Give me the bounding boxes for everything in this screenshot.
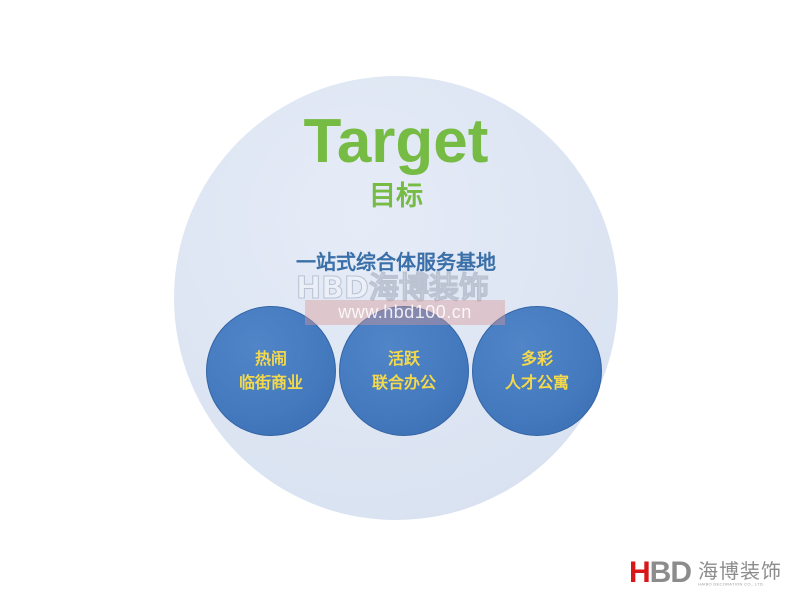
logo-letter-h: H (629, 556, 650, 589)
logo-letters-bd: BD (650, 556, 691, 589)
bubble-2-line-2: 联合办公 (372, 372, 436, 394)
logo-name-english: HAIBO DECORATION CO., LTD. (698, 582, 765, 587)
subtitle: 一站式综合体服务基地 (174, 249, 618, 275)
backdrop-circle (174, 76, 618, 520)
bubble-item-3: 多彩 人才公寓 (472, 306, 602, 436)
slide-canvas: Target 目标 一站式综合体服务基地 热闹 临街商业 活跃 联合办公 多彩 … (0, 0, 800, 600)
bubble-row: 热闹 临街商业 活跃 联合办公 多彩 人才公寓 (206, 306, 602, 438)
bubble-1-line-1: 热闹 (255, 348, 287, 370)
bubble-3-line-1: 多彩 (521, 348, 553, 370)
bubble-2-line-1: 活跃 (388, 348, 420, 370)
bubble-3-line-2: 人才公寓 (505, 372, 569, 394)
logo-text-block: 海博装饰 HAIBO DECORATION CO., LTD. (698, 560, 782, 588)
bubble-1-line-2: 临街商业 (239, 372, 303, 394)
bubble-item-1: 热闹 临街商业 (206, 306, 336, 436)
company-logo: HBD 海博装饰 HAIBO DECORATION CO., LTD. (629, 558, 782, 588)
logo-name-chinese: 海博装饰 (698, 560, 782, 582)
logo-wordmark: HBD (629, 558, 691, 588)
bubble-item-2: 活跃 联合办公 (339, 306, 469, 436)
